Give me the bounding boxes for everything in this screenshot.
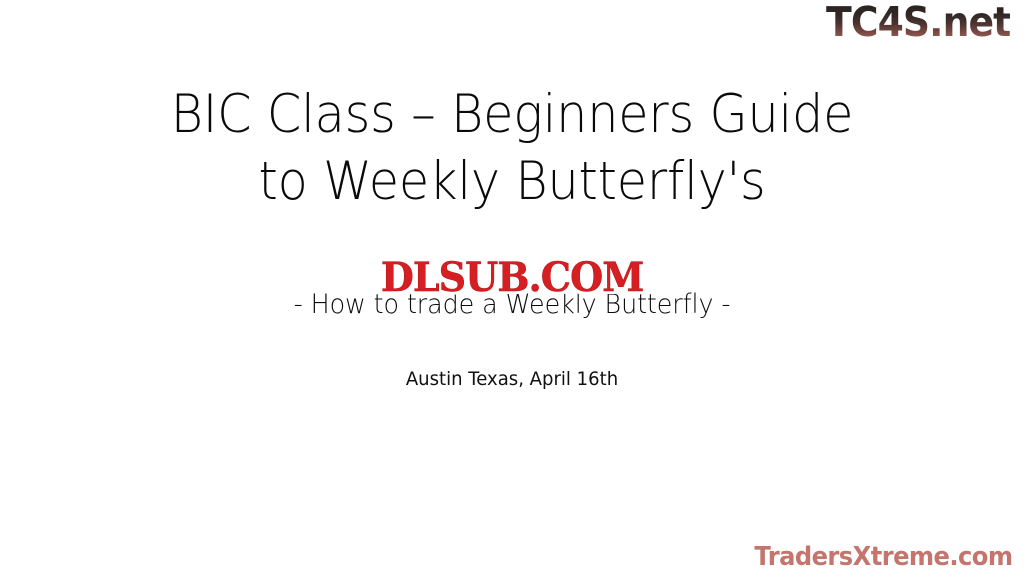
slide-subtitle: - How to trade a Weekly Butterfly - (31, 289, 994, 321)
slide-title-line-2: to Weekly Butterfly's (36, 149, 988, 216)
slide-title: BIC Class – Beginners Guide to Weekly Bu… (36, 82, 988, 216)
slide-event-location-date: Austin Texas, April 16th (26, 368, 999, 391)
presentation-slide: TC4S.net BIC Class – Beginners Guide to … (0, 0, 1024, 576)
tc4s-brand-logo: TC4S.net (826, 2, 1010, 43)
tradersxtreme-brand-logo: TradersXtreme.com (754, 544, 1012, 570)
slide-title-line-1: BIC Class – Beginners Guide (36, 82, 988, 149)
